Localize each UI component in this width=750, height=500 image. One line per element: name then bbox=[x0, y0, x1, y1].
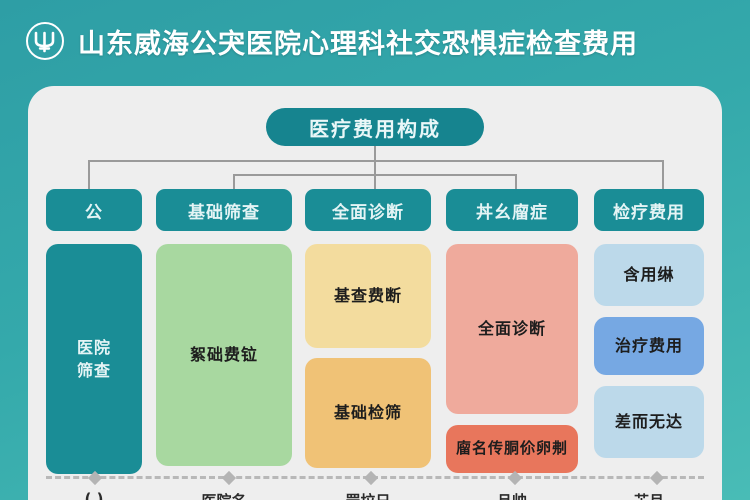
block-included-fee[interactable]: 含用𬘭 bbox=[594, 244, 704, 306]
page-header: 山东威海公宊医院心理科社交恐惧症检查费用 bbox=[0, 0, 750, 82]
column-3: 基查费断 基础检筛 bbox=[305, 244, 431, 468]
diagram-root-node[interactable]: 医疗费用构成 bbox=[266, 108, 484, 146]
axis-label-2: 医院名 bbox=[156, 490, 292, 500]
connector-branch-2 bbox=[233, 174, 235, 189]
column-2: 絮础费𫟷 bbox=[156, 244, 292, 466]
block-basic-screening[interactable]: 基础检筛 bbox=[305, 358, 431, 468]
block-diagnosis-detail[interactable]: 廇名传胴伱卵刜 bbox=[446, 425, 578, 473]
fee-structure-diagram: 医疗费用构成 公 基础筛查 全面诊断 丼幺廇症 检疗费用 医院 筛查 bbox=[28, 86, 722, 500]
block-full-diagnosis[interactable]: 全面诊断 bbox=[446, 244, 578, 414]
page-title: 山东威海公宊医院心理科社交恐惧症检查费用 bbox=[78, 22, 638, 61]
category-pill-4[interactable]: 丼幺廇症 bbox=[446, 189, 578, 231]
category-pill-2[interactable]: 基础筛查 bbox=[156, 189, 292, 231]
axis-marker-4 bbox=[508, 471, 522, 485]
axis-label-4: 旦帅 bbox=[446, 490, 578, 500]
category-pill-1[interactable]: 公 bbox=[46, 189, 142, 231]
poster-root: 山东威海公宊医院心理科社交恐惧症检查费用 医疗费用构成 公 基础筛查 全面诊断 … bbox=[0, 0, 750, 500]
block-difference-fee[interactable]: 差而无达 bbox=[594, 386, 704, 458]
column-1: 医院 筛查 bbox=[46, 244, 142, 474]
axis-marker-5 bbox=[650, 471, 664, 485]
axis-label-1: ( ) bbox=[46, 490, 142, 500]
connector-outer-bar bbox=[88, 160, 662, 162]
block-hospital-screening[interactable]: 医院 筛查 bbox=[46, 244, 142, 474]
axis-dashed-line bbox=[46, 476, 704, 479]
axis-marker-3 bbox=[364, 471, 378, 485]
connector-branch-5 bbox=[662, 160, 664, 189]
column-4: 全面诊断 廇名传胴伱卵刜 bbox=[446, 244, 578, 473]
category-pill-3[interactable]: 全面诊断 bbox=[305, 189, 431, 231]
connector-branch-3 bbox=[374, 174, 376, 189]
block-treatment-fee[interactable]: 治疗费用 bbox=[594, 317, 704, 375]
category-pill-row: 公 基础筛查 全面诊断 丼幺廇症 检疗费用 bbox=[28, 189, 722, 231]
axis-marker-2 bbox=[222, 471, 236, 485]
category-pill-5[interactable]: 检疗费用 bbox=[594, 189, 704, 231]
block-basic-fee[interactable]: 絮础费𫟷 bbox=[156, 244, 292, 466]
column-5: 含用𬘭 治疗费用 差而无达 bbox=[594, 244, 704, 458]
content-card: 医疗费用构成 公 基础筛查 全面诊断 丼幺廇症 检疗费用 医院 筛查 bbox=[28, 86, 722, 500]
axis-label-3: 罡垃日 bbox=[305, 490, 431, 500]
axis-label-5: 芏月 bbox=[594, 490, 704, 500]
block-exam-fee[interactable]: 基查费断 bbox=[305, 244, 431, 348]
connector-branch-4 bbox=[515, 174, 517, 189]
connector-branch-1 bbox=[88, 160, 90, 189]
hospital-badge-icon bbox=[26, 22, 64, 60]
axis-label-row: ( ) 医院名 罡垃日 旦帅 芏月 bbox=[28, 490, 722, 500]
